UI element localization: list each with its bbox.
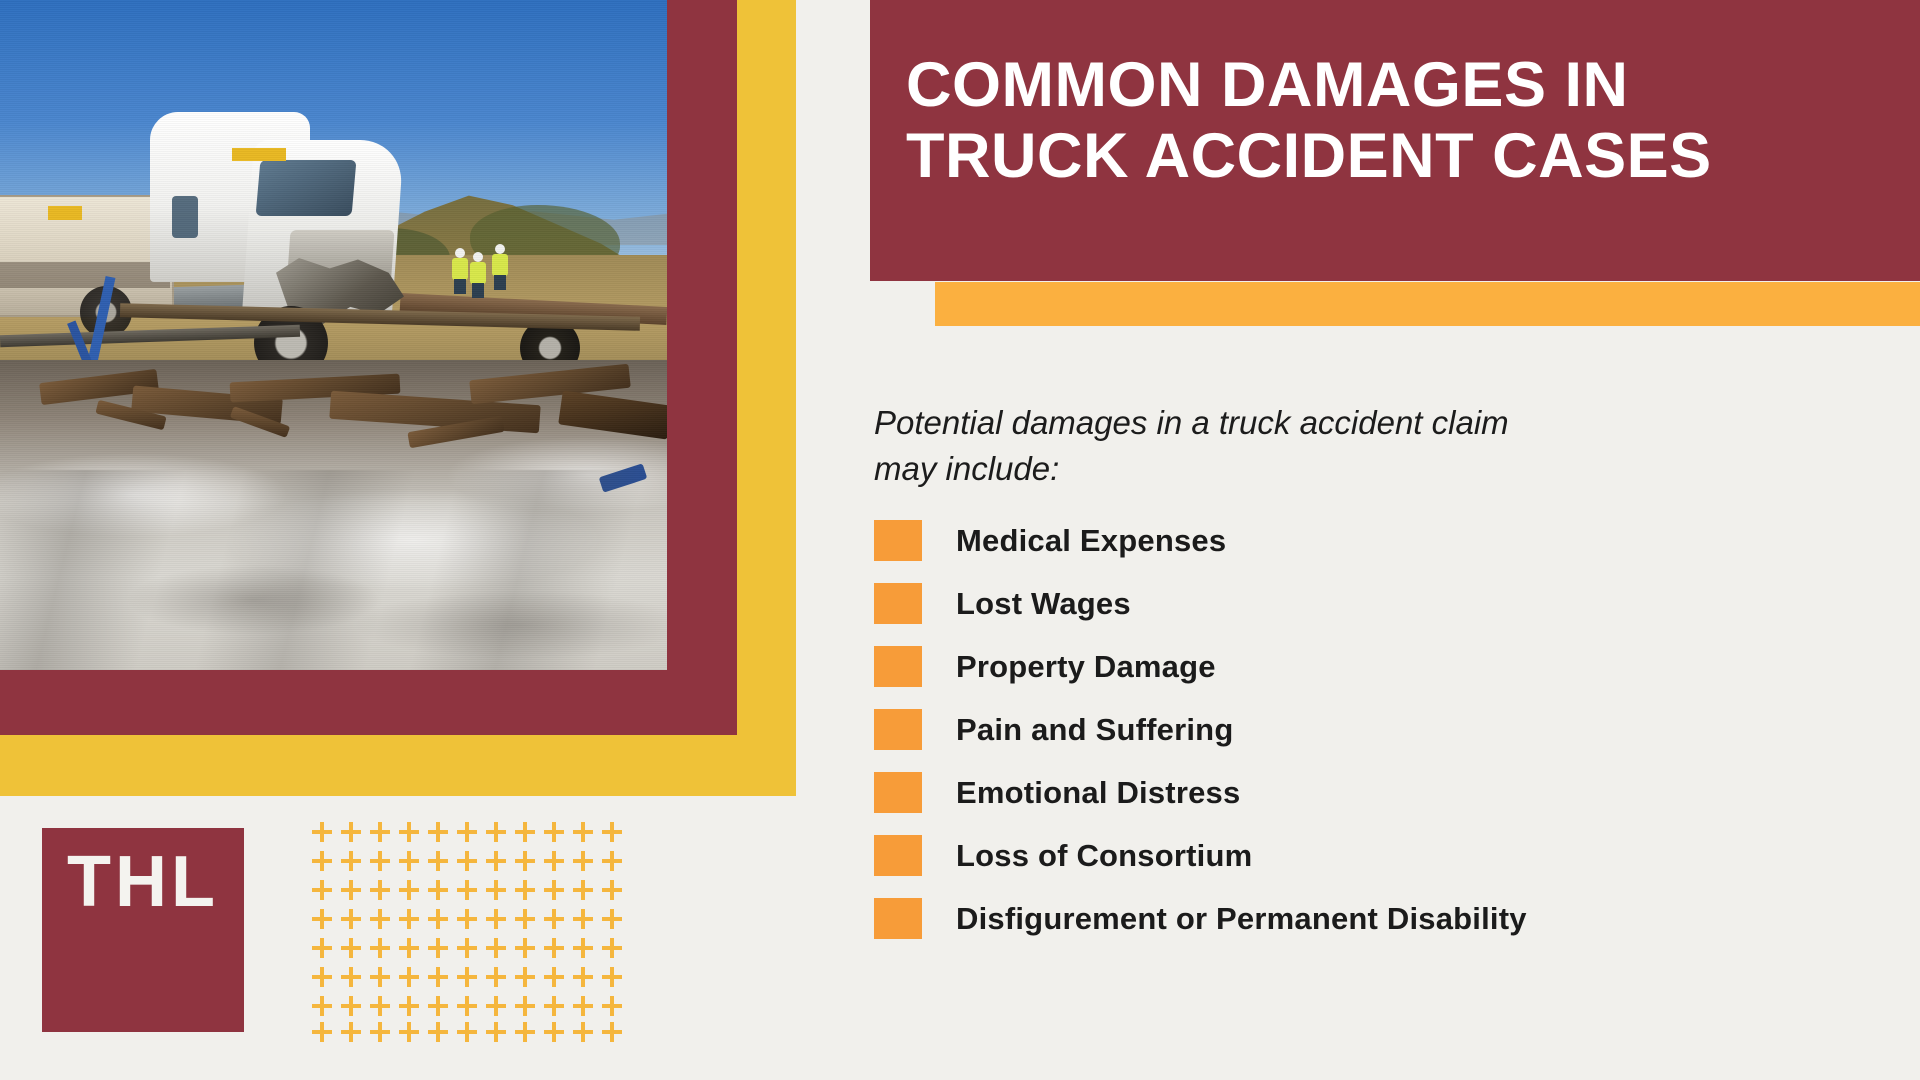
photo-trailer-shadow bbox=[0, 262, 170, 288]
bullet-square-icon bbox=[874, 646, 922, 687]
intro-text: Potential damages in a truck accident cl… bbox=[874, 400, 1774, 491]
list-item: Disfigurement or Permanent Disability bbox=[874, 893, 1874, 944]
thl-logo: THL bbox=[42, 828, 244, 1032]
plus-grid-decoration bbox=[312, 822, 634, 1044]
list-item-label: Medical Expenses bbox=[956, 523, 1226, 559]
list-item: Lost Wages bbox=[874, 578, 1874, 629]
bullet-square-icon bbox=[874, 520, 922, 561]
list-item-label: Lost Wages bbox=[956, 586, 1131, 622]
photo-worker bbox=[470, 252, 486, 298]
list-item: Medical Expenses bbox=[874, 515, 1874, 566]
damages-list: Medical Expenses Lost Wages Property Dam… bbox=[874, 515, 1874, 956]
list-item: Property Damage bbox=[874, 641, 1874, 692]
truck-accident-photo bbox=[0, 0, 667, 670]
list-item: Emotional Distress bbox=[874, 767, 1874, 818]
photo-worker bbox=[492, 244, 508, 290]
bullet-square-icon bbox=[874, 583, 922, 624]
photo-truck-stripe bbox=[232, 148, 286, 161]
list-item: Loss of Consortium bbox=[874, 830, 1874, 881]
photo-worker bbox=[452, 248, 468, 294]
photo-trailer-stripe bbox=[48, 206, 82, 220]
page-title: COMMON DAMAGES IN TRUCK ACCIDENT CASES bbox=[906, 50, 1896, 191]
photo-truck-side-window bbox=[172, 196, 198, 238]
title-block: COMMON DAMAGES IN TRUCK ACCIDENT CASES bbox=[870, 0, 1920, 281]
list-item-label: Emotional Distress bbox=[956, 775, 1240, 811]
plus-grid-icon bbox=[312, 822, 634, 1044]
list-item-label: Property Damage bbox=[956, 649, 1216, 685]
bullet-square-icon bbox=[874, 772, 922, 813]
list-item-label: Pain and Suffering bbox=[956, 712, 1233, 748]
bullet-square-icon bbox=[874, 898, 922, 939]
photo-shadow-streaks bbox=[0, 470, 667, 670]
intro-line-2: may include: bbox=[874, 446, 1774, 492]
photo-truck-windshield bbox=[256, 160, 357, 216]
list-item-label: Loss of Consortium bbox=[956, 838, 1252, 874]
page-title-line-2: TRUCK ACCIDENT CASES bbox=[906, 121, 1896, 192]
bullet-square-icon bbox=[874, 835, 922, 876]
list-item: Pain and Suffering bbox=[874, 704, 1874, 755]
thl-logo-text: THL bbox=[42, 846, 244, 918]
list-item-label: Disfigurement or Permanent Disability bbox=[956, 901, 1527, 937]
title-underline-accent bbox=[935, 282, 1920, 326]
bullet-square-icon bbox=[874, 709, 922, 750]
infographic-canvas: THL COMMON DAMAGES bbox=[0, 0, 1920, 1080]
page-title-line-1: COMMON DAMAGES IN bbox=[906, 50, 1896, 121]
intro-line-1: Potential damages in a truck accident cl… bbox=[874, 400, 1774, 446]
